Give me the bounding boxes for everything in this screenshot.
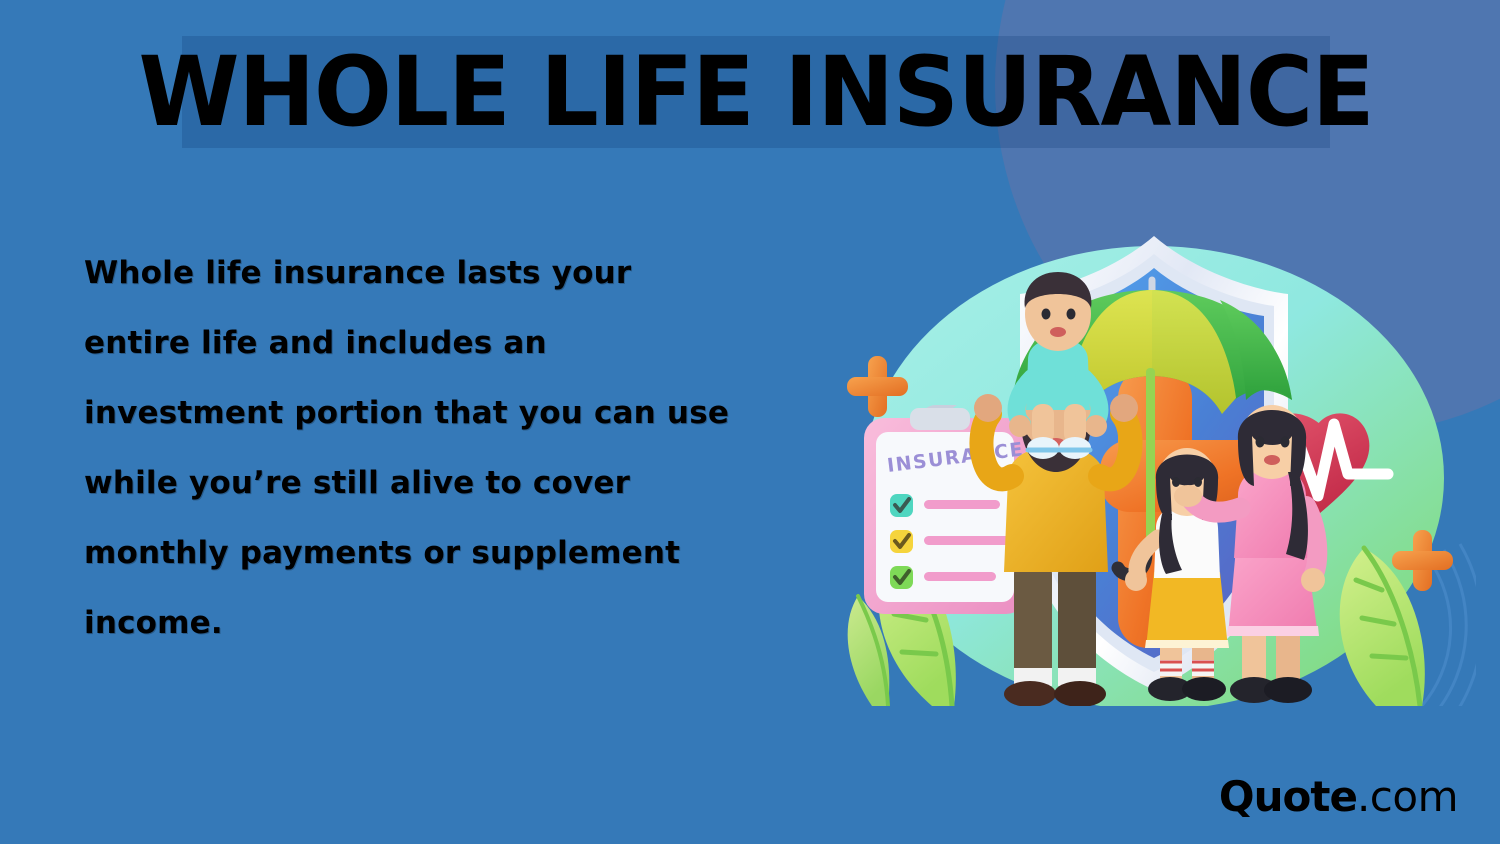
logo-brand: Quote: [1219, 772, 1357, 821]
body-line: investment portion that you can use: [84, 378, 824, 448]
body-line: entire life and includes an: [84, 308, 824, 378]
body-paragraph: Whole life insurance lasts your entire l…: [84, 238, 824, 658]
logo-tld: .com: [1357, 772, 1458, 821]
clipboard-icon: INSURANCE: [864, 408, 1026, 614]
family-insurance-illustration: INSURANCE: [836, 228, 1476, 706]
body-line: income.: [84, 588, 824, 658]
infographic-canvas: WHOLE LIFE INSURANCE Whole life insuranc…: [0, 0, 1500, 844]
body-line: while you’re still alive to cover: [84, 448, 824, 518]
body-line: monthly payments or supplement: [84, 518, 824, 588]
quote-com-logo[interactable]: Quote.com: [1219, 776, 1458, 818]
page-title: WHOLE LIFE INSURANCE: [148, 36, 1365, 148]
body-line: Whole life insurance lasts your: [84, 238, 824, 308]
